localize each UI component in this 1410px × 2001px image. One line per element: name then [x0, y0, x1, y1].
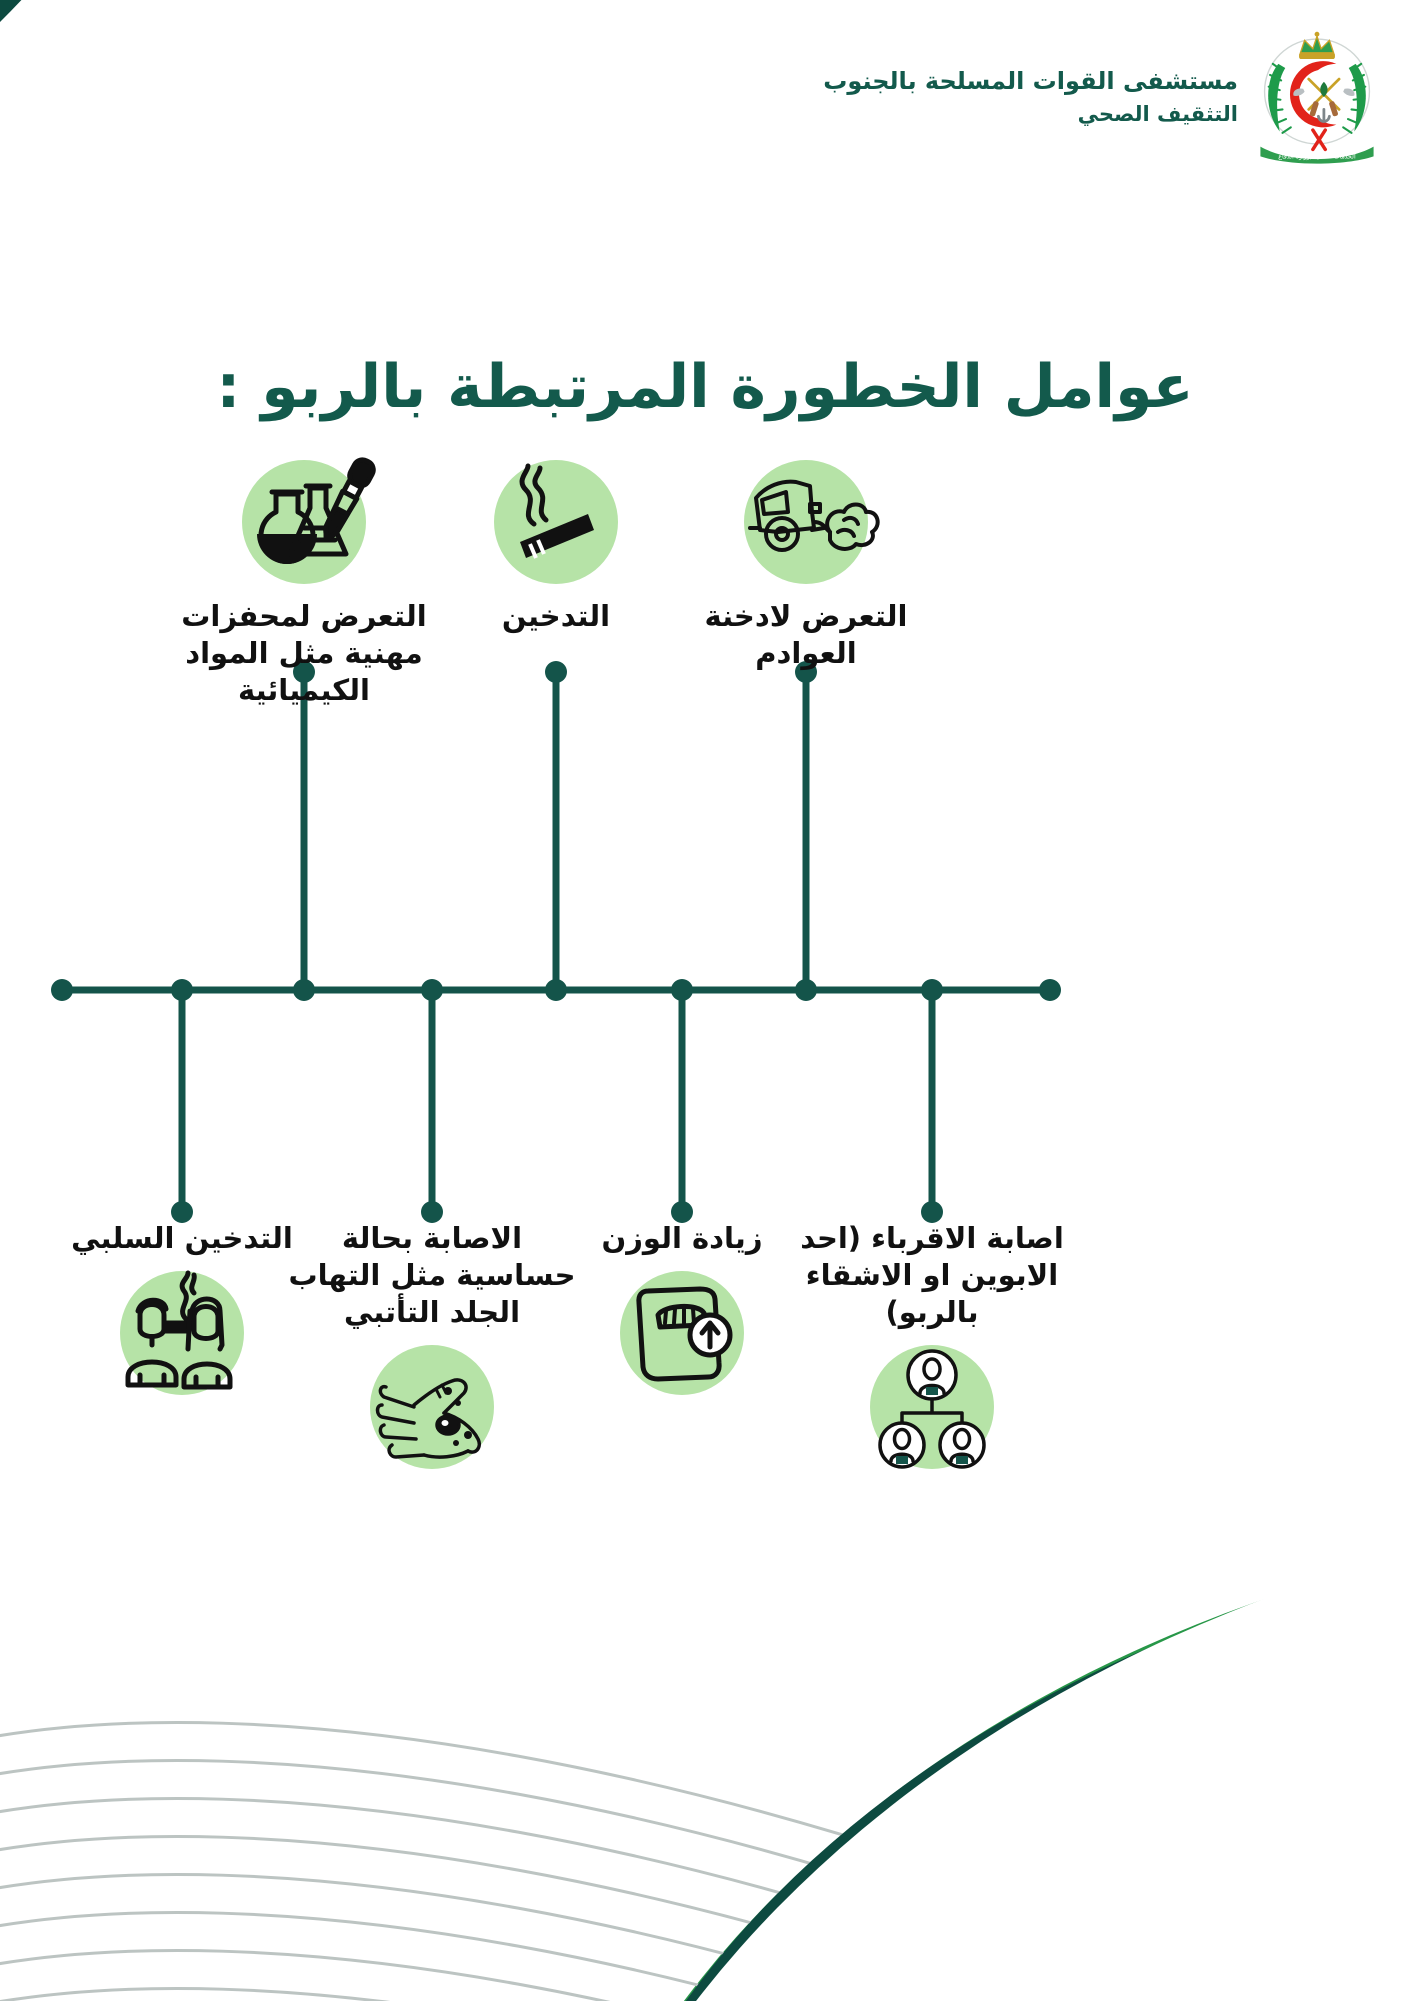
- timeline-node-dot: [671, 979, 693, 1001]
- logo-ribbon-text: الخدمات الصحية بوزارة الدفاع: [1278, 153, 1356, 160]
- timeline-node-dot: [293, 979, 315, 1001]
- timeline-node-dot: [545, 979, 567, 1001]
- poster-root: الخدمات الصحية بوزارة الدفاع مستشفى القو…: [0, 0, 1410, 2001]
- page-title: عوامل الخطورة المرتبطة بالربو :: [0, 352, 1410, 422]
- timeline-node-dot: [171, 979, 193, 1001]
- icon-badge: [120, 1271, 244, 1395]
- department-name: التثقيف الصحي: [823, 99, 1238, 129]
- car-exhaust-icon: [726, 442, 886, 602]
- passive-smoking-people-icon: [102, 1253, 262, 1413]
- timeline-end-cap-right: [51, 979, 73, 1001]
- top-left-dark-swash: [0, 0, 360, 300]
- timeline-stem-dot: [545, 661, 567, 683]
- lab-flasks-dropper-icon: [224, 442, 384, 602]
- icon-badge: [242, 460, 366, 584]
- risk-factor-label: التعرض لادخنة العوادم: [656, 598, 956, 672]
- timeline-node-dot: [795, 979, 817, 1001]
- cigarette-icon: [476, 442, 636, 602]
- icon-badge: [870, 1345, 994, 1469]
- top-left-green-swash: [0, 0, 310, 320]
- risk-factor-label: اصابة الاقرباء (احد الابوين او الاشقاء ب…: [782, 1220, 1082, 1331]
- risk-factor-family-history: اصابة الاقرباء (احد الابوين او الاشقاء ب…: [782, 1220, 1082, 1469]
- timeline-node-dot: [921, 979, 943, 1001]
- hand-skin-rash-icon: [352, 1327, 512, 1487]
- top-left-mask: [0, 0, 250, 310]
- risk-factor-exhaust-fumes: التعرض لادخنة العوادم: [656, 460, 956, 672]
- timeline-node-dot: [421, 979, 443, 1001]
- icon-badge: [494, 460, 618, 584]
- icon-badge: [370, 1345, 494, 1469]
- timeline-end-cap-left: [1039, 979, 1061, 1001]
- icon-badge: [744, 460, 868, 584]
- armed-forces-medical-services-emblem-icon: الخدمات الصحية بوزارة الدفاع: [1254, 28, 1380, 166]
- weight-scale-up-arrow-icon: [602, 1253, 762, 1413]
- crown-icon: [1299, 32, 1335, 59]
- icon-badge: [620, 1271, 744, 1395]
- family-tree-icon: [852, 1327, 1012, 1487]
- poster-header: الخدمات الصحية بوزارة الدفاع مستشفى القو…: [823, 28, 1380, 166]
- organization-name: مستشفى القوات المسلحة بالجنوب: [823, 64, 1238, 99]
- risk-factors-timeline: التعرض لمحفزات مهنية مثل المواد الكيميائ…: [0, 560, 1410, 1460]
